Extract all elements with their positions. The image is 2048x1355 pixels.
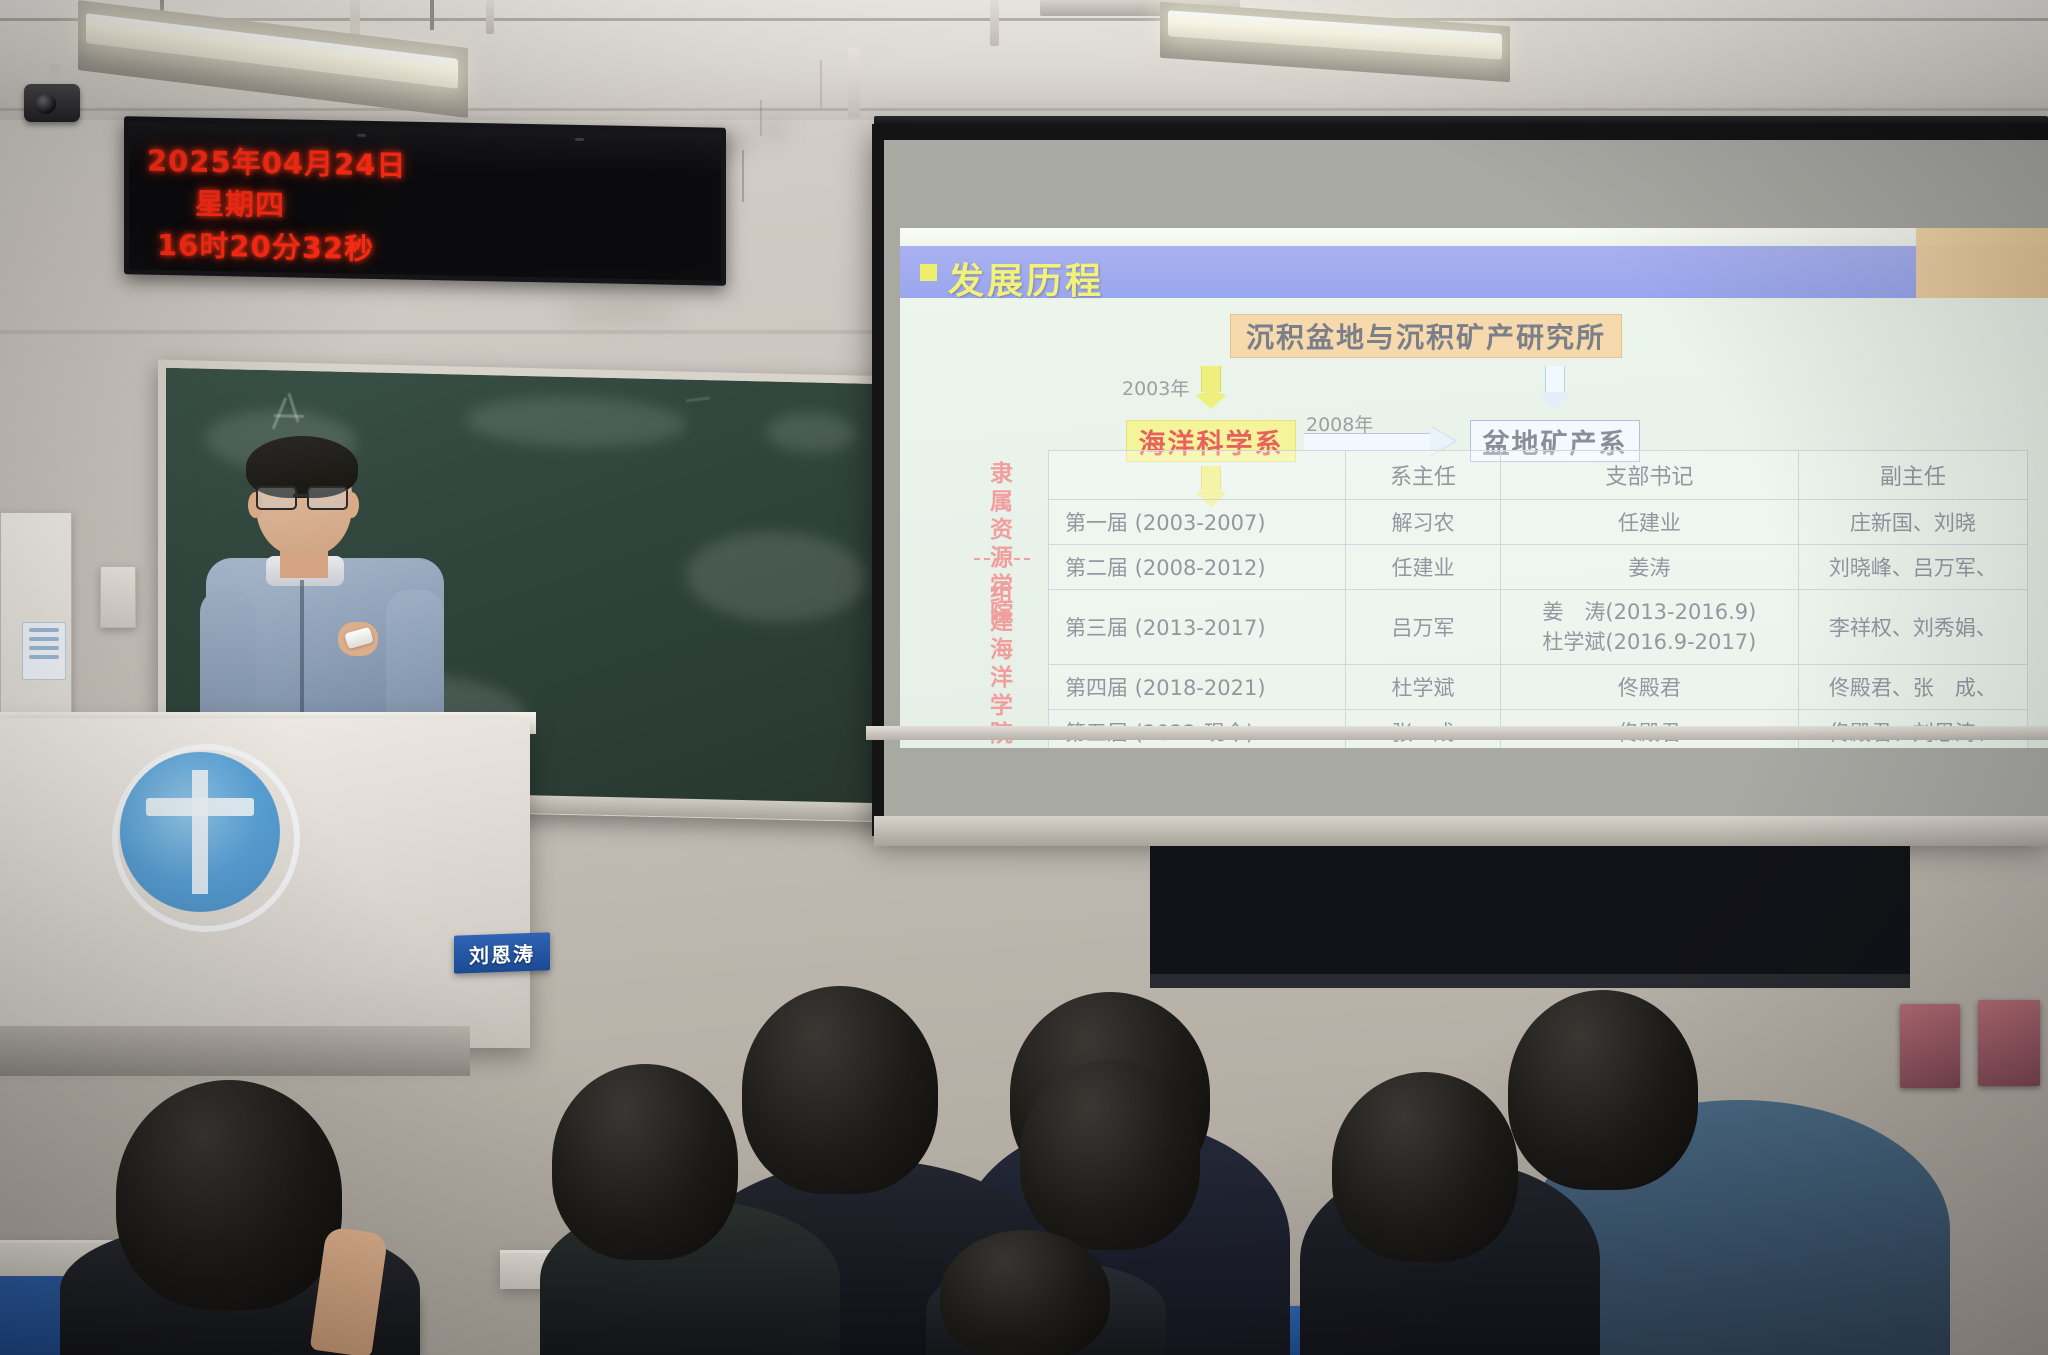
bullet-square-icon [920,264,937,281]
cabinet-label [22,622,66,680]
screen-roller-bar [866,726,2048,740]
cell-term: 第三届 (2013-2017) [1049,590,1346,665]
th-term [1049,451,1346,500]
nameplate-text: 刘恩涛 [469,937,535,968]
cell-term: 第一届 (2003-2007) [1049,500,1346,545]
led-clock-board: 2025年04月24日 星期四 16时20分32秒 [124,116,726,286]
presenter-zipper [300,580,304,730]
cell-head: 杜学斌 [1345,665,1500,710]
table-header-row: 系主任 支部书记 副主任 [1049,451,2028,500]
security-camera-icon [24,84,80,122]
wall-poster-2 [1978,1000,2040,1086]
cell-term: 第二届 (2008-2012) [1049,545,1346,590]
flow-box-institute: 沉积盆地与沉积矿产研究所 [1230,314,1622,358]
slide-corner-accent [1916,228,2048,298]
cell-deputy: 庄新国、刘晓 [1798,500,2027,545]
light-hanger-2 [430,0,434,30]
cell-deputy: 刘晓峰、吕万军、 [1798,545,2027,590]
th-secretary: 支部书记 [1501,451,1799,500]
university-emblem-icon [120,752,280,912]
presentation-slide: 发展历程 沉积盆地与沉积矿产研究所 2003年 海洋科学系 盆地矿产系 2008… [900,228,2048,748]
audience-head-5 [1508,990,1698,1190]
podium-base [0,1026,470,1076]
ceiling-seam-lower [0,108,2048,111]
glasses-icon [256,486,354,508]
cell-head: 任建业 [1345,545,1500,590]
desk-nameplate: 刘恩涛 [454,932,550,973]
cell-secretary: 姜 涛(2013-2016.9)杜学斌(2016.9-2017) [1501,590,1799,665]
side-label-divider [974,558,1030,560]
cell-deputy: 佟殿君、张 成、 [1798,665,2027,710]
cell-secretary: 姜涛 [1501,545,1799,590]
table-row: 第一届 (2003-2007)解习农任建业庄新国、刘晓 [1049,500,2028,545]
side-label-line2: 资源 [990,517,1014,571]
cell-secretary: 佟殿君 [1501,665,1799,710]
glasses-bridge [293,494,307,497]
screen-lower-wall [874,816,2048,846]
chalk-mark [686,396,710,402]
wall-crack-3 [820,60,822,108]
cell-head: 吕万军 [1345,590,1500,665]
glasses-lens-right [307,486,348,510]
slide-title-band: 发展历程 [900,246,2048,298]
slide-top-edge [900,228,2048,246]
ceiling-seam [0,18,2048,21]
audience-head-2 [742,986,938,1194]
cell-secretary: 任建业 [1501,500,1799,545]
glasses-lens-left [256,486,297,510]
table-row: 第二届 (2008-2012)任建业姜涛刘晓峰、吕万军、 [1049,545,2028,590]
th-deputy: 副主任 [1798,451,2027,500]
audience-head-6 [940,1230,1110,1355]
leadership-table: 系主任 支部书记 副主任 第一届 (2003-2007)解习农任建业庄新国、刘晓… [1048,450,2028,748]
audience-head-1b [552,1064,738,1260]
table-row: 第三届 (2013-2017)吕万军姜 涛(2013-2016.9)杜学斌(20… [1049,590,2028,665]
audience-head-2b [1020,1060,1200,1250]
arrow-down-icon-1 [1192,366,1230,392]
side-label-establishment: 组建 海洋 学院 [980,580,1024,748]
chalk-mark [274,414,304,418]
table-body: 第一届 (2003-2007)解习农任建业庄新国、刘晓第二届 (2008-201… [1049,500,2028,749]
wall-switch-box[interactable] [100,566,136,628]
arrow-down-icon-2 [1536,366,1574,392]
th-head: 系主任 [1345,451,1500,500]
side-label-line4: 组建 [990,581,1014,635]
panel-trim [1150,974,1910,988]
lecture-hall-scene: 2025年04月24日 星期四 16时20分32秒 发展历程 [0,0,2048,1355]
side-label-line1: 隶属 [990,461,1014,515]
wall-stain-3 [560,300,680,322]
year-label-2003: 2003年 [1122,374,1189,401]
led-indicator-2 [575,138,584,141]
cell-term: 第四届 (2018-2021) [1049,665,1346,710]
cell-head: 解习农 [1345,500,1500,545]
projection-screen: 发展历程 沉积盆地与沉积矿产研究所 2003年 海洋科学系 盆地矿产系 2008… [884,140,2048,816]
wall-poster-1 [1900,1004,1960,1088]
audience-head-4 [1332,1072,1518,1262]
led-indicator-1 [357,134,366,137]
audience-head-1 [116,1080,342,1310]
presenter [200,440,450,740]
ceiling-pipe-right [990,0,999,46]
side-label-line5: 海洋 [990,637,1014,691]
table-row: 第四届 (2018-2021)杜学斌佟殿君佟殿君、张 成、 [1049,665,2028,710]
wall-stain-2 [760,120,788,140]
rear-dark-panel [1150,846,1910,974]
ceiling-pipe-mid [486,0,494,34]
wall-conduit [848,48,860,118]
wall-crack-2 [760,100,762,136]
slide-title-text: 发展历程 [948,252,1104,304]
cell-deputy: 李祥权、刘秀娟、 [1798,590,2027,665]
